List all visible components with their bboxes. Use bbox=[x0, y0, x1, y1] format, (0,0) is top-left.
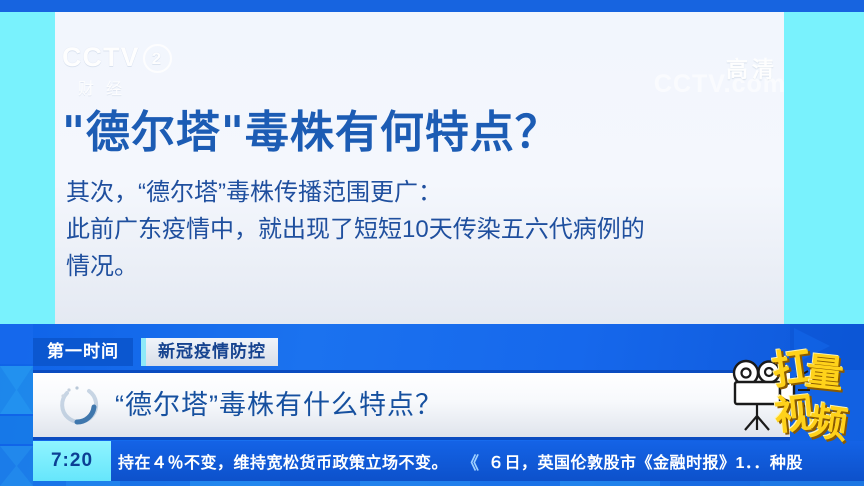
broadcast-screenshot: CCTV2 财经 高清 CCTV.com "德尔塔"毒株有何特点？ 其次，“德尔… bbox=[0, 0, 864, 486]
loading-arc-icon bbox=[53, 381, 101, 429]
body-line-3: 情况。 bbox=[66, 248, 766, 285]
video-brand-logo: 扛 量 视 频 bbox=[730, 338, 858, 458]
video-logo-char-4: 频 bbox=[806, 390, 851, 450]
top-blue-bar bbox=[0, 0, 864, 12]
banner-tag-row: 第一时间 新冠疫情防控 bbox=[33, 338, 278, 366]
clock-time: 7:20 bbox=[33, 441, 111, 481]
body-line-1: 其次，“德尔塔”毒株传播范围更广： bbox=[66, 174, 766, 211]
slide-body-text: 其次，“德尔塔”毒株传播范围更广： 此前广东疫情中，就出现了短短10天传染五六代… bbox=[66, 174, 766, 285]
cyan-right-strip bbox=[784, 12, 864, 324]
news-headline-text: “德尔塔”毒株有什么特点？ bbox=[115, 384, 443, 426]
cyan-left-strip bbox=[0, 12, 55, 324]
program-tag[interactable]: 第一时间 bbox=[33, 338, 133, 366]
topic-tag[interactable]: 新冠疫情防控 bbox=[141, 338, 278, 366]
video-frame: CCTV2 财经 高清 CCTV.com "德尔塔"毒株有何特点？ 其次，“德尔… bbox=[0, 12, 864, 324]
ticker-text-left: 持在４％不变，维持宽松货币政策立场不变。 bbox=[118, 441, 448, 481]
news-headline-bar: “德尔塔”毒株有什么特点？ bbox=[33, 370, 790, 440]
cctv-watermark: CCTV.com bbox=[654, 70, 786, 99]
body-line-2: 此前广东疫情中，就出现了短短10天传染五六代病例的 bbox=[66, 211, 766, 248]
slide-headline: "德尔塔"毒株有何特点？ bbox=[62, 96, 560, 160]
ticker-separator-icon: 《 bbox=[462, 441, 479, 481]
